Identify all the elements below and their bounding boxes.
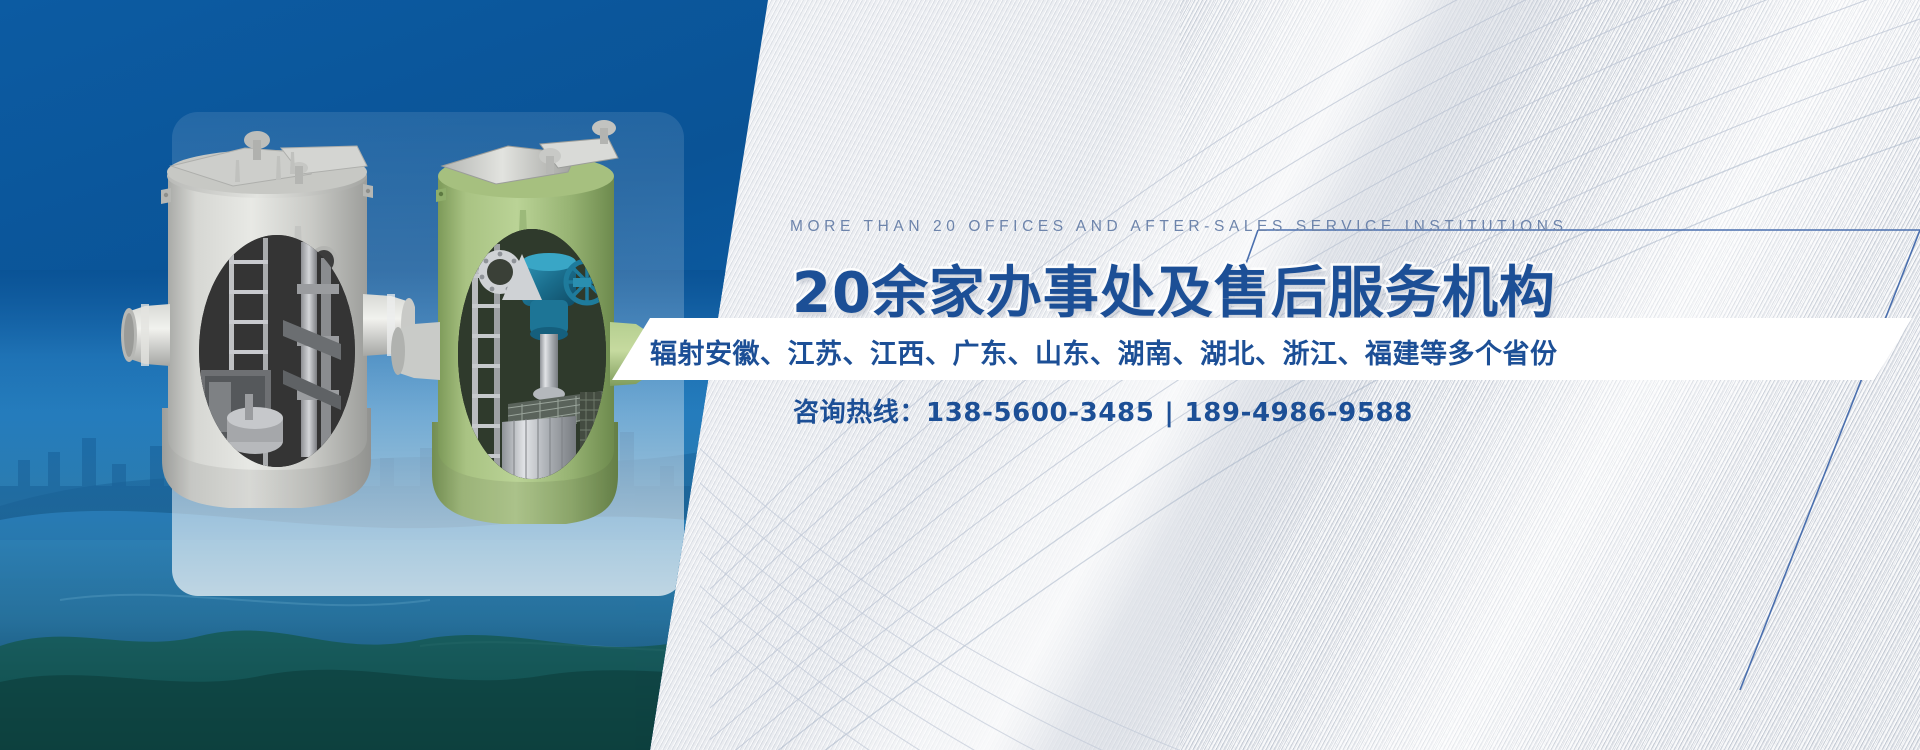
product-image-gray-pump-station (105, 108, 415, 508)
hotline-primary-number[interactable]: 138-5600-3485 (926, 398, 1154, 428)
page-title: 20余家办事处及售后服务机构 (792, 248, 1556, 329)
provinces-text: 辐射安徽、江苏、江西、广东、山东、湖南、湖北、浙江、福建等多个省份 (650, 332, 1558, 371)
eyebrow-text: MORE THAN 20 OFFICES AND AFTER-SALES SER… (790, 218, 1390, 236)
hotline-label: 咨询热线： (793, 398, 926, 428)
product-image-green-pump-station (390, 104, 650, 524)
promo-banner: MORE THAN 20 OFFICES AND AFTER-SALES SER… (0, 0, 1920, 750)
hotline-separator: | (1154, 398, 1184, 428)
hotline-secondary-number[interactable]: 189-4986-9588 (1185, 398, 1413, 428)
hotline-row: 咨询热线：138-5600-3485|189-4986-9588 (793, 392, 1413, 429)
